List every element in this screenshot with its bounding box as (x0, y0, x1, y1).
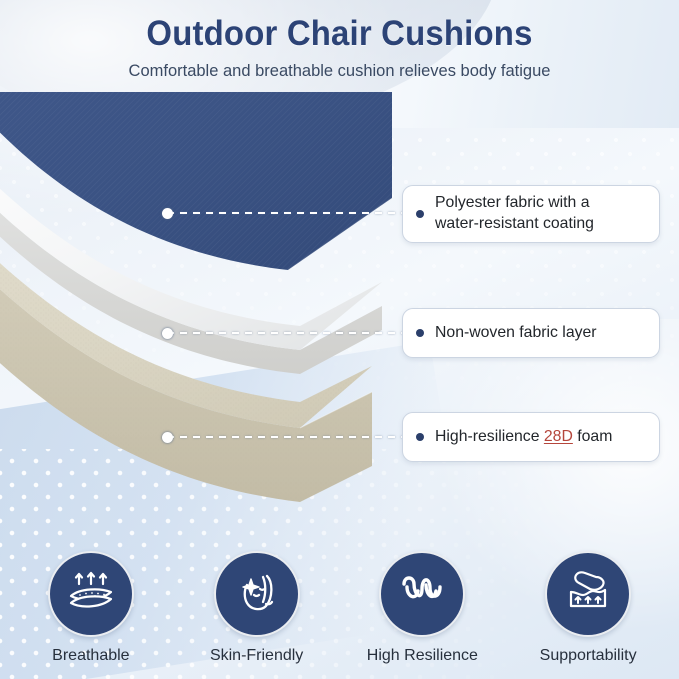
feature-breathable[interactable]: Breathable (11, 551, 171, 665)
callout-polyester-line-1: Polyester fabric with a (435, 194, 590, 211)
page-title: Outdoor Chair Cushions (20, 14, 658, 54)
leader-line-polyester (167, 212, 419, 214)
callout-foam-text-after: foam (573, 428, 613, 445)
feature-high-resilience-circle (379, 551, 465, 637)
leader-dot-foam (162, 432, 173, 443)
header: Outdoor Chair Cushions Comfortable and b… (0, 14, 679, 81)
leader-dot-polyester (162, 208, 173, 219)
callout-bullet-icon (416, 329, 424, 337)
feature-breathable-circle (48, 551, 134, 637)
callout-foam-text-before: High-resilience (435, 428, 544, 445)
feature-skin-friendly[interactable]: Skin-Friendly (177, 551, 337, 665)
leader-dot-non-woven (162, 328, 173, 339)
page-subtitle: Comfortable and breathable cushion relie… (0, 62, 679, 81)
feature-breathable-label: Breathable (52, 647, 129, 665)
spring-coil-icon (397, 571, 447, 618)
callout-polyester-text: Polyester fabric with a water-resistant … (435, 193, 594, 234)
feature-skin-friendly-circle (214, 551, 300, 637)
feature-supportability-label: Supportability (540, 647, 637, 665)
callout-non-woven[interactable]: Non-woven fabric layer (402, 308, 660, 358)
feature-supportability[interactable]: Supportability (508, 551, 668, 665)
callout-bullet-icon (416, 433, 424, 441)
feature-supportability-circle (545, 551, 631, 637)
feature-high-resilience-label: High Resilience (367, 647, 478, 665)
product-infographic: Outdoor Chair Cushions Comfortable and b… (0, 0, 679, 679)
callout-foam-highlight: 28D (544, 428, 573, 445)
breathable-fabric-icon (66, 568, 116, 621)
feature-list: Breathable Skin-Friendly (0, 551, 679, 665)
callout-foam-text: High-resilience 28D foam (435, 427, 612, 448)
callout-bullet-icon (416, 210, 424, 218)
callout-polyester[interactable]: Polyester fabric with a water-resistant … (402, 185, 660, 243)
hand-pressing-foam-icon (563, 568, 613, 621)
callout-foam[interactable]: High-resilience 28D foam (402, 412, 660, 462)
callout-polyester-line-2: water-resistant coating (435, 215, 594, 232)
feature-high-resilience[interactable]: High Resilience (342, 551, 502, 665)
callout-non-woven-text: Non-woven fabric layer (435, 323, 597, 344)
leader-line-non-woven (167, 332, 419, 334)
feature-skin-friendly-label: Skin-Friendly (210, 647, 303, 665)
leader-line-foam (167, 436, 419, 438)
product-layer-illustration (0, 92, 440, 512)
face-sparkle-icon (233, 568, 281, 621)
